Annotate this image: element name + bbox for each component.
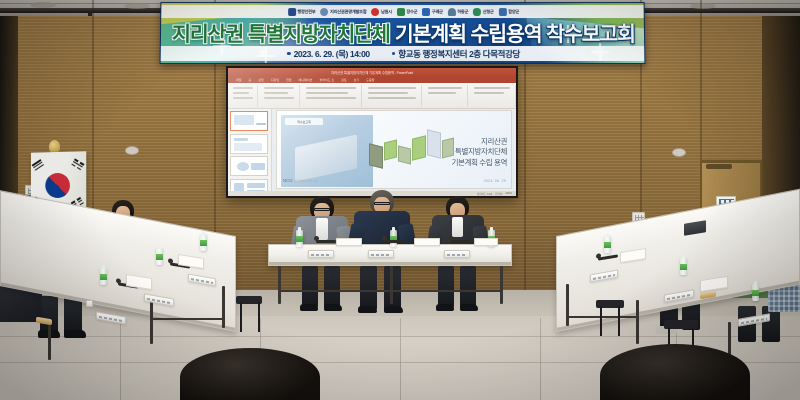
- ceiling-vent: [124, 3, 150, 9]
- agency-logo-icon: [321, 8, 329, 16]
- banner-logo-label: 장수군: [406, 9, 417, 15]
- current-slide: 착수보고회 지리산권 특별지방자치단체 기본계획 수립 용역 2023.: [276, 110, 512, 189]
- agency-logo-icon: [372, 8, 380, 16]
- table-crossbar: [150, 318, 224, 320]
- ribbon-tab[interactable]: 홈: [249, 78, 252, 82]
- document-paper: [414, 238, 440, 246]
- water-bottle[interactable]: [156, 248, 163, 265]
- door-closer: [706, 164, 732, 169]
- agency-logo-icon: [422, 8, 430, 16]
- table-leg: [636, 300, 639, 344]
- ribbon-tab[interactable]: 슬라이드 쇼: [319, 78, 334, 82]
- slide-thumbnail[interactable]: [230, 156, 268, 176]
- wall-fixture: [672, 148, 686, 157]
- banner-logo-item: 남원시: [372, 8, 392, 16]
- banner-subtitle: 2023. 6. 29. (목) 14:00 향교동 행정복지센터 2층 다목적…: [161, 46, 646, 61]
- water-bottle[interactable]: [390, 230, 397, 247]
- ribbon-tab[interactable]: 전환: [286, 78, 292, 82]
- slide-title-line3: 기본계획 수립 용역: [411, 158, 507, 168]
- ribbon-tab[interactable]: 도움말: [366, 78, 374, 82]
- bullet-icon: [287, 52, 291, 56]
- banner-logo-label: 행정안전부: [297, 9, 315, 15]
- powerpoint-ribbon: [228, 83, 516, 109]
- slide-photo-tag: 착수보고회: [285, 118, 323, 125]
- document-paper: [474, 238, 498, 246]
- water-bottle[interactable]: [296, 230, 303, 247]
- slide-thumbnail-panel[interactable]: [228, 109, 272, 191]
- banner-location: 향교동 행정복지센터 2층 다목적강당: [392, 48, 520, 60]
- banner-logo-label: 남원시: [381, 9, 392, 15]
- ribbon-tab[interactable]: 삽입: [258, 78, 264, 82]
- projection-screen: 지리산권 특별지방자치단체 기본계획 수립용역 - PowerPoint 파일 …: [226, 66, 518, 198]
- paper-cup[interactable]: [86, 300, 93, 307]
- banner-logo-label: 지리산권관광개발조합: [330, 9, 367, 15]
- water-bottle[interactable]: [604, 236, 611, 253]
- table-leg: [278, 266, 281, 304]
- slide-photo-desk: [295, 134, 357, 181]
- table-leg: [222, 286, 225, 328]
- water-bottle[interactable]: [752, 284, 759, 301]
- wall-fixture: [125, 146, 139, 155]
- glasses-icon: [314, 208, 330, 211]
- slide-photo: 착수보고회: [281, 115, 373, 187]
- meeting-room-photo: 행정안전부 지리산권관광개발조합 남원시 장수군 구례군 하동군: [0, 0, 800, 400]
- table-leg: [566, 284, 569, 326]
- banner-logo-label: 산청군: [483, 9, 494, 15]
- slide-thumbnail[interactable]: [230, 134, 268, 154]
- screen-surface: 지리산권 특별지방자치단체 기본계획 수립용역 - PowerPoint 파일 …: [228, 68, 516, 196]
- powerpoint-title: 지리산권 특별지방자치단체 기본계획 수립용역 - PowerPoint: [331, 70, 413, 75]
- microphone[interactable]: [316, 240, 336, 243]
- ribbon-tab[interactable]: 보기: [354, 78, 360, 82]
- table-leg: [500, 266, 503, 304]
- banner-title-green: 지리산권 특별지방자치단체: [172, 17, 390, 47]
- agency-logo-icon: [448, 8, 456, 16]
- trigram-gam-icon: [71, 158, 85, 171]
- microphone[interactable]: [450, 240, 470, 243]
- document-paper: [336, 238, 362, 246]
- ribbon-tab[interactable]: 디자인: [271, 78, 279, 82]
- foreground-person-right: [600, 344, 750, 400]
- banner-date: 2023. 6. 29. (목) 14:00: [287, 48, 370, 60]
- table-crossbar: [566, 316, 638, 318]
- event-banner: 행정안전부 지리산권관광개발조합 남원시 장수군 구례군 하동군: [160, 2, 646, 64]
- bullet-icon: [392, 52, 396, 56]
- agency-logo-icon: [288, 8, 296, 16]
- name-placard: [444, 250, 470, 258]
- trigram-geon-icon: [32, 159, 45, 171]
- water-bottle[interactable]: [100, 268, 107, 285]
- banner-title: 지리산권 특별지방자치단체 기본계획 수립용역 착수보고회: [161, 18, 646, 46]
- slide-logo-name: NCG: [283, 178, 292, 183]
- powerpoint-titlebar: 지리산권 특별지방자치단체 기본계획 수립용역 - PowerPoint: [228, 68, 516, 77]
- water-bottle[interactable]: [680, 258, 687, 275]
- slide-title-line1: 지리산권: [411, 137, 507, 147]
- person-shirt: [452, 217, 463, 237]
- status-zoom-level: 100%: [505, 192, 512, 195]
- table-leg: [48, 320, 51, 360]
- glasses-icon: [374, 202, 390, 205]
- taegeuk-symbol-icon: [45, 173, 70, 198]
- banner-logo-item: 함양군: [499, 8, 519, 16]
- ribbon-tab[interactable]: 검토: [341, 78, 347, 82]
- banner-logo-item: 산청군: [473, 8, 493, 16]
- microphone[interactable]: [384, 240, 404, 243]
- table-leg: [390, 266, 393, 304]
- table-crossbar: [278, 290, 502, 292]
- banner-logo-item: 구례군: [422, 8, 442, 16]
- banner-logo-label: 구례군: [432, 9, 443, 15]
- water-bottle[interactable]: [200, 234, 207, 251]
- banner-logo-label: 하동군: [457, 9, 468, 15]
- slide-logo-sub: 한국지방행정연구원: [294, 179, 317, 183]
- slide-logo: NCG 한국지방행정연구원: [283, 178, 318, 183]
- slide-title-line2: 특별지방자치단체: [411, 147, 507, 157]
- agency-logo-icon: [473, 8, 481, 16]
- status-slide-number: 슬라이드 1/24: [477, 192, 492, 196]
- slide-title-block: 지리산권 특별지방자치단체 기본계획 수립 용역: [411, 137, 507, 168]
- ribbon-tab[interactable]: 애니메이션: [299, 78, 313, 82]
- banner-logo-label: 함양군: [508, 9, 519, 15]
- status-language: 한국어: [495, 192, 502, 196]
- banner-logo-item: 장수군: [397, 8, 417, 16]
- agency-logo-icon: [397, 8, 405, 16]
- slide-thumbnail[interactable]: [230, 111, 268, 131]
- ceiling-vent: [30, 2, 56, 8]
- banner-logo-item: 하동군: [448, 8, 468, 16]
- ceiling-vent: [690, 3, 716, 9]
- name-placard: [308, 250, 334, 258]
- slide-date: 2023. 06. 29: [484, 179, 506, 183]
- name-placard: [368, 250, 394, 258]
- table-leg: [150, 300, 153, 344]
- foreground-person-left: [180, 348, 320, 400]
- banner-title-white: 기본계획 수립용역 착수보고회: [395, 17, 635, 47]
- agency-logo-icon: [499, 8, 507, 16]
- banner-logo-item: 지리산권관광개발조합: [321, 8, 367, 16]
- banner-logo-item: 행정안전부: [288, 8, 316, 16]
- ribbon-tab[interactable]: 파일: [236, 78, 242, 82]
